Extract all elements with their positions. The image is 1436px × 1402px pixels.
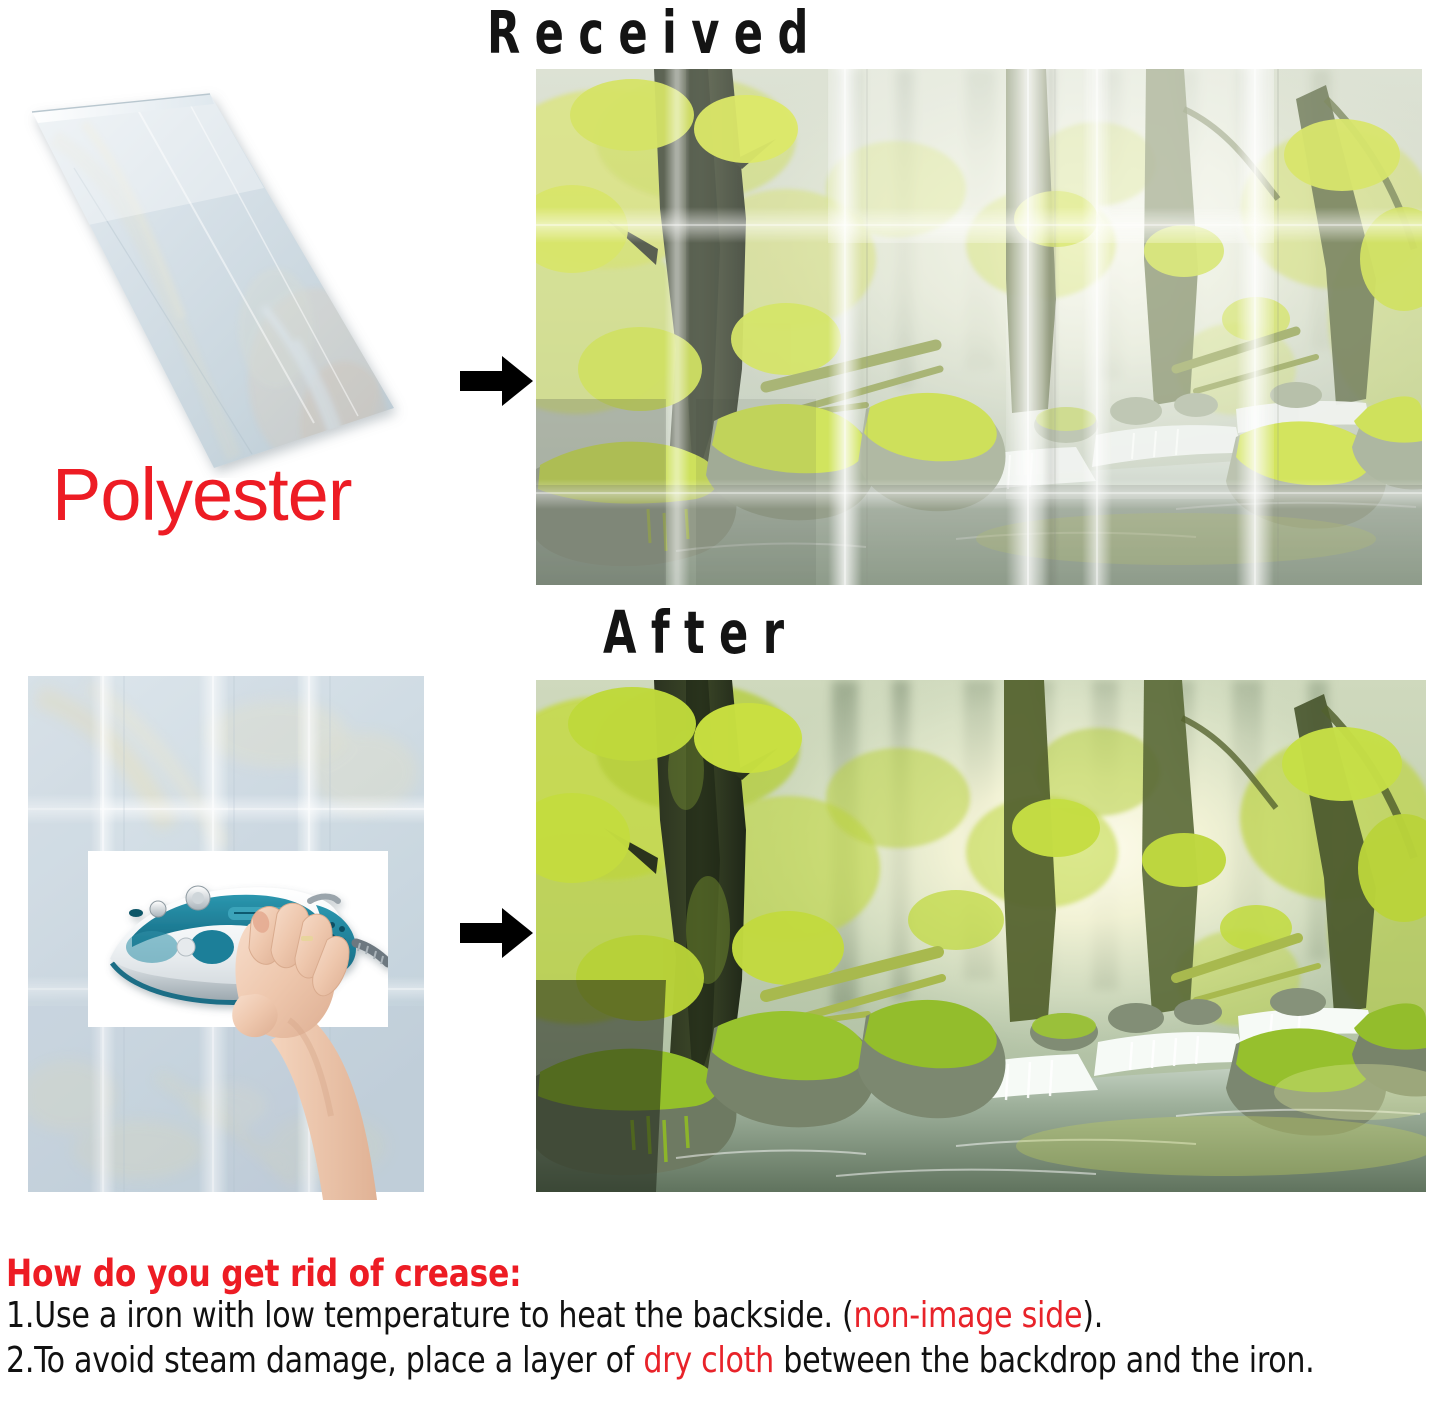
care-instructions: How do you get rid of crease: 1.Use a ir… <box>6 1254 1430 1383</box>
instructions-heading: How do you get rid of crease: <box>6 1254 1345 1294</box>
after-photo <box>536 680 1426 1192</box>
polyester-label: Polyester <box>52 458 351 532</box>
received-photo <box>536 69 1422 585</box>
right-arrow-icon <box>460 905 534 961</box>
after-heading: After <box>603 604 798 663</box>
line2-suffix: between the backdrop and the iron. <box>774 1340 1314 1381</box>
folded-fabric-swatch <box>14 78 414 478</box>
line2-prefix: 2.To avoid steam damage, place a layer o… <box>6 1340 643 1381</box>
line1-suffix: ). <box>1082 1295 1103 1336</box>
line1-highlight: non-image side <box>854 1295 1083 1336</box>
line2-highlight: dry cloth <box>643 1340 774 1381</box>
instruction-line-1: 1.Use a iron with low temperature to hea… <box>6 1294 1330 1339</box>
right-arrow-icon <box>460 353 534 409</box>
line1-prefix: 1.Use a iron with low temperature to hea… <box>6 1295 854 1336</box>
received-heading: Received <box>487 4 823 63</box>
instruction-line-2: 2.To avoid steam damage, place a layer o… <box>6 1339 1330 1384</box>
iron-illustration <box>88 851 388 1027</box>
